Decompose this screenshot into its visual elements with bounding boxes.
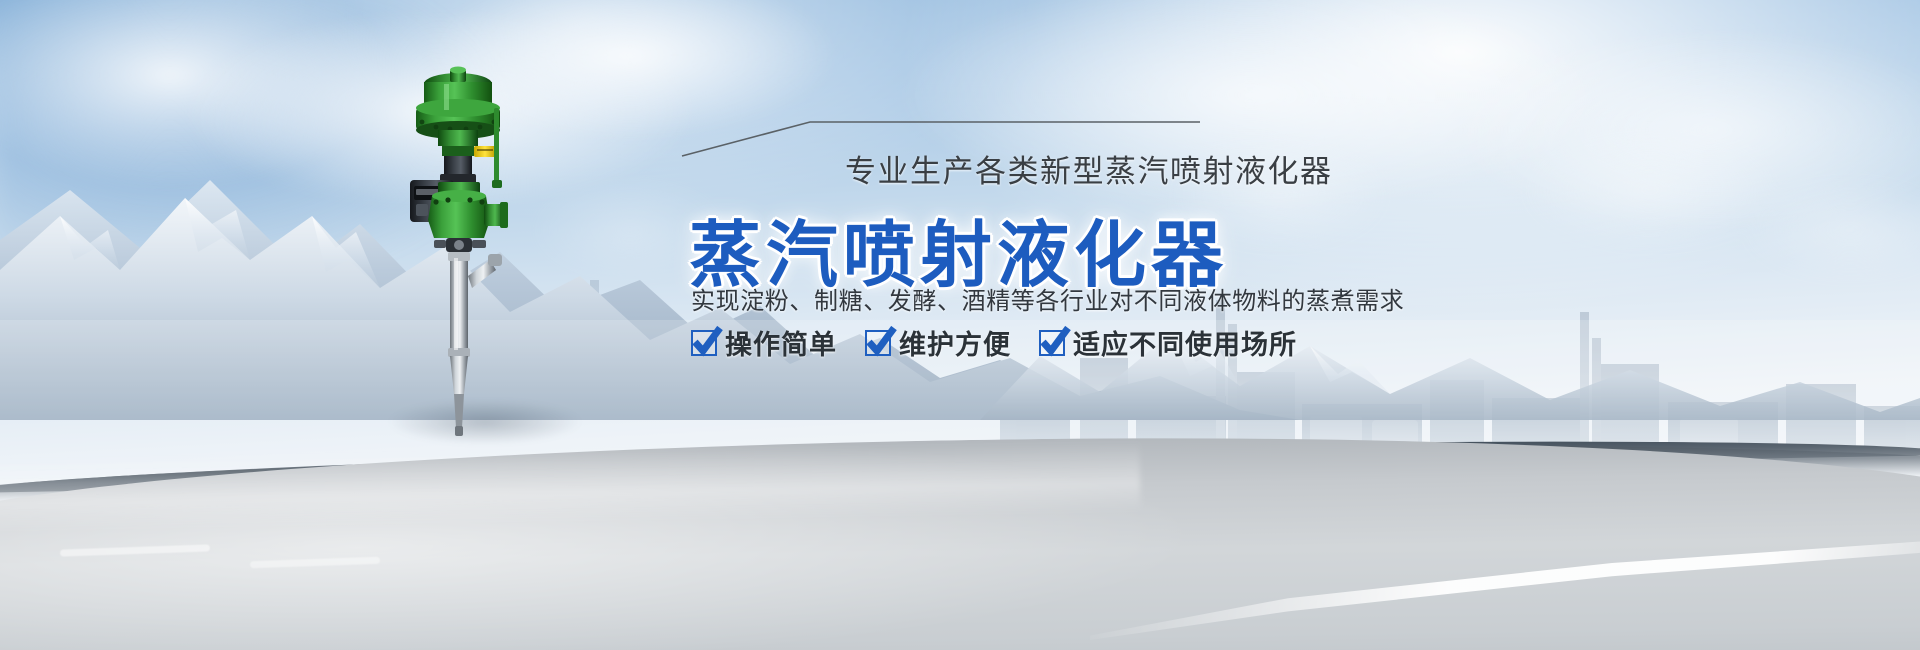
feature-label: 操作简单: [725, 323, 837, 362]
banner-subtitle: 专业生产各类新型蒸汽喷射液化器: [845, 146, 1333, 191]
feature-label: 维护方便: [899, 323, 1011, 362]
checkbox-checked-icon: [691, 330, 717, 356]
feature-badge-list: 操作简单 维护方便 适应不同使用场所: [691, 323, 1297, 362]
product-image: [398, 62, 558, 437]
feature-badge: 操作简单: [691, 323, 837, 362]
control-valve-illustration: [398, 62, 558, 437]
feature-label: 适应不同使用场所: [1073, 323, 1297, 362]
checkbox-checked-icon: [1039, 330, 1065, 356]
feature-badge: 适应不同使用场所: [1039, 323, 1297, 362]
checkbox-checked-icon: [865, 330, 891, 356]
banner-description: 实现淀粉、制糖、发酵、酒精等各行业对不同液体物料的蒸煮需求: [691, 281, 1404, 316]
highway-scene: [0, 350, 1920, 650]
feature-badge: 维护方便: [865, 323, 1011, 362]
product-hero-banner: 专业生产各类新型蒸汽喷射液化器 蒸汽喷射液化器 实现淀粉、制糖、发酵、酒精等各行…: [0, 0, 1920, 650]
